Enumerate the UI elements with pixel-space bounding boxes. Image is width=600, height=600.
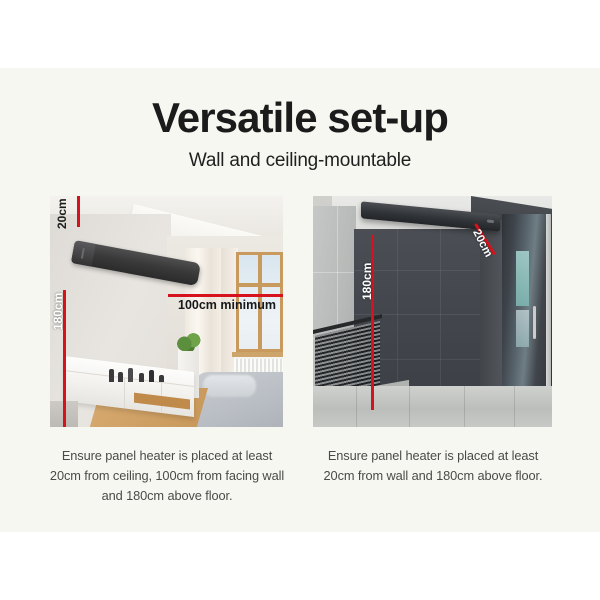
door-handle [533, 306, 536, 339]
dimension-label-facing-wall: 100cm minimum [178, 299, 276, 312]
sideboard-divider [124, 378, 125, 409]
potted-plant [176, 333, 204, 351]
page-title: Versatile set-up [0, 96, 600, 140]
decor-object [149, 370, 154, 382]
floor-plank-seam [356, 386, 357, 427]
decor-object [109, 369, 114, 382]
decor-object [159, 375, 164, 382]
decor-object [128, 368, 133, 382]
page-subtitle: Wall and ceiling-mountable [0, 150, 600, 172]
floor-plank-seam [464, 386, 465, 427]
product-feature-slide: Versatile set-up Wall and ceiling-mounta… [0, 0, 600, 600]
dimension-label-floor-height-right: 180cm [361, 263, 373, 300]
dimension-line-floor-height-right [371, 235, 374, 410]
bed [194, 372, 283, 427]
heater-end-cap [71, 240, 95, 266]
tile-grout-line [313, 272, 356, 273]
door-glass-pane [516, 251, 529, 305]
photo-ceiling-mounted [313, 196, 552, 427]
decor-objects [106, 366, 176, 382]
balcony-floor [313, 386, 552, 427]
dimension-label-floor-height-left: 180cm [52, 293, 64, 330]
tile-grout-line [440, 229, 441, 393]
door-glass-pane [516, 310, 529, 347]
caption-ceiling-mounted: Ensure panel heater is placed at least 2… [312, 446, 554, 486]
floor-plank-seam [409, 386, 410, 427]
dimension-line-ceiling-clearance [77, 196, 80, 227]
dimension-line-facing-wall [168, 294, 283, 297]
tile-grout-line [397, 229, 398, 393]
decor-object [139, 373, 144, 382]
window-mullion-horizontal [239, 283, 280, 287]
caption-wall-mounted: Ensure panel heater is placed at least 2… [46, 446, 288, 505]
floor-plank-seam [514, 386, 515, 427]
dimension-label-ceiling-clearance: 20cm [56, 198, 68, 229]
decor-object [118, 372, 123, 382]
